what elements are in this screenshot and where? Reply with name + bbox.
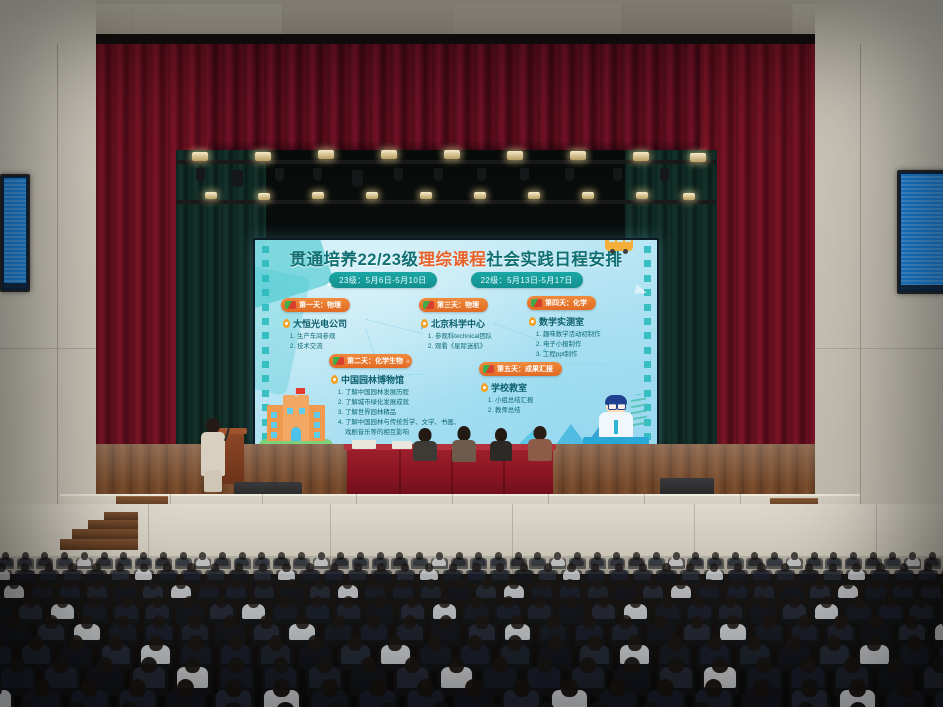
bus-tire <box>610 249 615 254</box>
ribbon-leaf-icon <box>531 299 542 307</box>
panel-table <box>347 448 553 496</box>
stage-lamp <box>192 152 208 161</box>
stage-lamp <box>474 192 486 199</box>
audience-member-head <box>0 563 6 572</box>
audience-member-head <box>756 657 772 674</box>
audience-member-head <box>37 579 47 590</box>
card-item: 了解中国园林发展历程 <box>345 388 461 398</box>
panelist-body <box>413 441 437 461</box>
audience-member-head <box>870 615 883 629</box>
school-window <box>287 408 293 414</box>
card-item: 教师总结 <box>495 406 562 416</box>
audience-member-head <box>615 563 623 572</box>
audience-member-head <box>811 552 818 560</box>
step <box>104 512 138 520</box>
audience-member-head <box>278 552 285 560</box>
day-ribbon: 第五天：成果汇报 <box>479 362 562 376</box>
audience-member-head <box>907 635 921 650</box>
step <box>60 539 138 550</box>
stage-lamp <box>205 192 217 199</box>
audience-member-head <box>258 552 265 560</box>
spotlight <box>520 168 529 181</box>
audience-member-head <box>548 635 562 650</box>
audience-member-head <box>899 579 909 590</box>
audience-member-head <box>712 657 728 674</box>
audience-member-head <box>668 657 684 674</box>
card-item: 观看《星际迷航》 <box>435 342 492 352</box>
audience-member-head <box>630 596 641 608</box>
audience-member-head <box>312 596 323 608</box>
audience-member-head <box>475 615 488 629</box>
ceiling-panel <box>452 4 623 38</box>
audience-member-head <box>692 552 699 560</box>
ceiling-panel <box>622 4 793 38</box>
audience-member-head <box>829 563 837 572</box>
bus-tire <box>623 249 628 254</box>
scientist-glasses <box>617 403 626 410</box>
day-ribbon: 第四天：化学 <box>527 296 596 310</box>
schedule-card-day3[interactable]: 第三天：物理 北京科学中心 参观科technical团队 观看《星际迷航》 <box>419 296 492 352</box>
stage-lamp <box>528 192 540 199</box>
audience-member-head <box>375 596 386 608</box>
plant-decor <box>631 394 647 428</box>
audience-member-head <box>109 635 123 650</box>
audience-member-head <box>141 657 157 674</box>
spotlight <box>394 168 403 181</box>
day-ribbon-label: 第一天：物理 <box>299 300 341 310</box>
presentation-slide: 贯通培养22/23级理综课程社会实践日程安排 23级：5月6日-5月10日 22… <box>255 240 657 446</box>
audience-member-head <box>503 596 514 608</box>
audience-member-head <box>189 635 203 650</box>
ribbon-leaf-icon <box>285 301 296 309</box>
day-ribbon-label: 第四天：化学 <box>545 298 587 308</box>
school-window <box>271 432 277 438</box>
audience-member-head <box>694 596 705 608</box>
audience-member-head <box>330 563 338 572</box>
location-pin-icon <box>529 317 536 326</box>
audience-member-head <box>520 563 528 572</box>
audience-member-head <box>248 596 259 608</box>
audience-member-head <box>361 657 377 674</box>
audience-member-head <box>68 563 76 572</box>
ceiling-panel <box>282 4 453 38</box>
audience-member-head <box>691 615 704 629</box>
audience-member-head <box>708 635 722 650</box>
location-pin-icon <box>421 319 428 328</box>
audience-member-head <box>121 596 132 608</box>
bus-window <box>609 240 615 242</box>
lighting-truss-lower <box>176 200 716 204</box>
audience-member-head <box>377 563 385 572</box>
audience-member-head <box>732 552 739 560</box>
audience-member-head <box>929 552 936 560</box>
card-place: 数学实测室 <box>529 315 601 328</box>
bus-window <box>625 240 631 242</box>
audience-member-head <box>704 579 714 590</box>
stage-lamp <box>312 192 324 199</box>
audience-member-head <box>33 679 50 697</box>
audience-member-head <box>225 679 242 697</box>
audience-member-head <box>849 679 866 697</box>
audience-member-head <box>149 635 163 650</box>
audience-member-head <box>791 552 798 560</box>
audience-member-head <box>465 679 482 697</box>
audience-member-head <box>25 596 36 608</box>
stage-lamp <box>255 152 271 161</box>
spotlight <box>313 168 322 181</box>
audience-member-head <box>815 579 825 590</box>
presenter-head <box>206 418 220 433</box>
stage-lamp <box>258 193 270 200</box>
audience-member-head <box>554 552 561 560</box>
audience-member-head <box>428 635 442 650</box>
audience-member-head <box>888 657 904 674</box>
day-ribbon-label: 第五天：成果汇报 <box>497 364 553 374</box>
card-place: 中国园林博物馆 <box>331 373 461 386</box>
table-paper <box>392 441 412 449</box>
audience-member-head <box>787 579 797 590</box>
audience-member-head <box>870 552 877 560</box>
audience-member-head <box>2 552 9 560</box>
audience-member-head <box>219 552 226 560</box>
wall-seam <box>57 44 58 560</box>
stage-lamp <box>366 192 378 199</box>
card-items: 参观科technical团队 观看《星际迷航》 <box>419 332 492 352</box>
audience-member-head <box>798 615 811 629</box>
step <box>88 520 138 529</box>
audience-member-head <box>867 635 881 650</box>
presenter <box>200 418 226 488</box>
location-pin-icon <box>283 319 290 328</box>
left-wall-display[interactable] <box>0 174 30 292</box>
day-ribbon: 第三天：物理 <box>419 298 488 312</box>
panelist-head <box>458 426 471 441</box>
audience-member-head <box>508 635 522 650</box>
audience-member-head <box>318 552 325 560</box>
audience-member-head <box>273 679 290 697</box>
audience-member-head <box>184 596 195 608</box>
audience-member-head <box>417 679 434 697</box>
audience-member-head <box>160 552 167 560</box>
audience-member-head <box>269 635 283 650</box>
audience-member-head <box>57 596 68 608</box>
audience-member-head <box>932 657 943 674</box>
display-taskbar <box>4 283 26 288</box>
audience-member-head <box>583 615 596 629</box>
audience-member-head <box>204 579 214 590</box>
step <box>72 529 138 539</box>
audience-member-head <box>850 552 857 560</box>
audience-member-head <box>343 579 353 590</box>
audience-member-head <box>298 552 305 560</box>
auditorium-photo: 贯通培养22/23级理综课程社会实践日程安排 23级：5月6日-5月10日 22… <box>0 0 943 707</box>
audience-member-head <box>633 552 640 560</box>
table-paper <box>352 440 376 449</box>
audience-member-head <box>580 657 596 674</box>
wall-band <box>0 348 96 349</box>
location-pin-icon <box>481 383 488 392</box>
audience-member-head <box>69 635 83 650</box>
audience-member-head <box>449 657 465 674</box>
audience-member-head <box>495 552 502 560</box>
date-badge-23: 23级：5月6日-5月10日 <box>329 272 436 288</box>
audience-member-head <box>468 635 482 650</box>
audience-member-head <box>897 679 914 697</box>
audience-member-head <box>216 596 227 608</box>
audience-member-head <box>712 552 719 560</box>
bus-window <box>617 240 623 242</box>
school-door <box>291 427 301 441</box>
projection-screen[interactable]: 贯通培养22/23级理综课程社会实践日程安排 23级：5月6日-5月10日 22… <box>253 238 659 448</box>
audience-member-head <box>45 563 53 572</box>
audience-member-head <box>337 552 344 560</box>
audience-member-head <box>511 615 524 629</box>
audience-member-head <box>449 563 457 572</box>
audience-member-head <box>296 615 309 629</box>
audience-member-head <box>354 563 362 572</box>
audience-member-head <box>747 635 761 650</box>
audience-member-head <box>332 615 345 629</box>
display-screen <box>4 178 26 288</box>
spotlight <box>565 168 574 181</box>
audience-member-head <box>235 563 243 572</box>
stage-lamp <box>690 153 706 162</box>
audience-member-head <box>315 579 325 590</box>
stage-lamp <box>683 193 695 200</box>
audience-member-head <box>97 657 113 674</box>
audience-member-head <box>852 563 860 572</box>
spotlight <box>434 168 443 181</box>
stage-lamp <box>507 151 523 160</box>
audience-member-head <box>853 596 864 608</box>
audience-member-head <box>199 552 206 560</box>
audience-member-head <box>787 635 801 650</box>
audience-member-head <box>41 552 48 560</box>
table-fold <box>399 450 401 496</box>
aisle-stairs <box>60 512 134 552</box>
card-items: 了解中国园林发展历程 了解城市绿化发展成就 了解世界园林精品 了解中国园林与传统… <box>329 388 461 438</box>
audience-member-head <box>653 552 660 560</box>
audience-member-head <box>81 552 88 560</box>
audience-member-head <box>561 679 578 697</box>
audience-member-head <box>727 615 740 629</box>
audience-member-head <box>574 552 581 560</box>
audience-member-head <box>751 552 758 560</box>
audience-member-head <box>624 657 640 674</box>
audience-member-head <box>116 563 124 572</box>
audience-member-head <box>547 615 560 629</box>
audience-member-head <box>188 615 201 629</box>
schedule-card-day5[interactable]: 第五天：成果汇报 学校教室 小组总结汇报 教师总结 <box>479 360 562 416</box>
audience-member-head <box>648 579 658 590</box>
card-item: 生产车间参观 <box>297 332 350 342</box>
audience-member-head <box>760 579 770 590</box>
panelist-body <box>528 439 552 461</box>
audience-member-head <box>407 596 418 608</box>
schedule-card-day4[interactable]: 第四天：化学 数学实测室 趣味数学活动初制作 电子小报制作 工程ppt制作 <box>527 294 601 360</box>
day-ribbon: 第一天：物理 <box>281 298 350 312</box>
audience-member-head <box>734 563 742 572</box>
card-item: 工程ppt制作 <box>543 350 601 360</box>
audience-member-head <box>321 679 338 697</box>
audience-member-head <box>885 596 896 608</box>
right-wall-display[interactable] <box>897 170 943 294</box>
audience-member-head <box>906 615 919 629</box>
day-ribbon-label: 第二天：化学生物 <box>347 356 403 366</box>
stage-lamp <box>582 192 594 199</box>
stage-lamp <box>570 151 586 160</box>
ribbon-leaf-icon <box>423 301 434 309</box>
slide-title: 贯通培养22/23级理综课程社会实践日程安排 <box>255 246 657 270</box>
audience-member-head <box>598 596 609 608</box>
audience-member-head <box>827 635 841 650</box>
audience-member-head <box>45 615 58 629</box>
audience-member-head <box>762 615 775 629</box>
audience-member-head <box>404 615 417 629</box>
audience-member-head <box>416 552 423 560</box>
audience-member-head <box>185 657 201 674</box>
audience-member-head <box>805 563 813 572</box>
panelist-head <box>534 426 547 440</box>
audience-member-head <box>619 615 632 629</box>
audience-member-head <box>9 615 22 629</box>
spotlight <box>352 170 363 187</box>
audience-member-head <box>21 563 29 572</box>
spotlight <box>660 168 669 181</box>
audience-member-head <box>117 615 130 629</box>
audience-member-head <box>370 579 380 590</box>
card-items: 趣味数学活动初制作 电子小报制作 工程ppt制作 <box>527 330 601 360</box>
wall-band <box>815 348 943 349</box>
card-item: 小组总结汇报 <box>495 396 562 406</box>
audience-member-head <box>92 579 102 590</box>
audience-member-head <box>81 615 94 629</box>
audience-member-head <box>889 552 896 560</box>
audience-member-head <box>89 596 100 608</box>
audience-member-head <box>705 679 722 697</box>
spotlight <box>613 168 622 181</box>
audience-member-head <box>926 579 936 590</box>
audience-member-head <box>282 563 290 572</box>
schedule-card-day1[interactable]: 第一天：物理 大恒光电公司 生产车间参观 技术交流 <box>281 296 350 352</box>
stage-lamp <box>636 192 648 199</box>
audience-member-head <box>176 579 186 590</box>
card-place-label: 大恒光电公司 <box>293 317 347 330</box>
school-building-illustration <box>259 394 333 446</box>
audience-member-head <box>65 579 75 590</box>
audience-member-head <box>426 579 436 590</box>
date-badge-row: 23级：5月6日-5月10日 22级：5月13日-5月17日 <box>255 272 657 288</box>
audience-member-head <box>732 579 742 590</box>
audience-member-head <box>628 635 642 650</box>
audience-member-head <box>308 635 322 650</box>
audience-member-head <box>830 552 837 560</box>
date-badge-22: 22级：5月13日-5月17日 <box>471 272 583 288</box>
audience-member-head <box>800 657 816 674</box>
card-place-label: 数学实测室 <box>539 315 584 328</box>
audience-member-head <box>396 552 403 560</box>
card-item: 了解中国园林与传统哲学、文学、书画、戏剧音乐等的相互影响 <box>345 418 461 438</box>
schedule-card-day2[interactable]: 第二天：化学生物 中国园林博物馆 了解中国园林发展历程 了解城市绿化发展成就 了… <box>329 352 461 438</box>
audience-member-head <box>348 635 362 650</box>
ribbon-leaf-icon <box>333 357 344 365</box>
audience-member-head <box>593 579 603 590</box>
school-bus-icon <box>605 240 633 251</box>
audience-member-head <box>224 615 237 629</box>
audience-member-head <box>388 635 402 650</box>
card-items: 小组总结汇报 教师总结 <box>479 396 562 416</box>
audience-member-head <box>53 657 69 674</box>
audience-member-head <box>676 579 686 590</box>
audience-member-head <box>843 579 853 590</box>
audience-member-head <box>821 596 832 608</box>
audience-member-head <box>187 563 195 572</box>
display-taskbar <box>901 285 943 290</box>
location-pin-icon <box>331 375 338 384</box>
sparkle-icon: ✧ <box>405 358 411 366</box>
panelist-body <box>452 440 476 462</box>
audience-member-head <box>537 579 547 590</box>
school-window <box>314 412 320 418</box>
audience-member-head <box>757 563 765 572</box>
audience-member-head <box>425 563 433 572</box>
audience-member-head <box>871 579 881 590</box>
spotlight <box>232 170 243 187</box>
audience-member-head <box>9 579 19 590</box>
audience-member-head <box>22 552 29 560</box>
school-window <box>314 422 320 428</box>
audience-member-head <box>287 579 297 590</box>
audience-member-head <box>101 552 108 560</box>
audience-member-head <box>120 579 130 590</box>
school-window <box>271 422 277 428</box>
stage-lamp <box>381 150 397 159</box>
stage-lamp <box>318 150 334 159</box>
wall-seam <box>860 44 861 560</box>
scientist-tie <box>614 420 618 434</box>
audience-member-head <box>398 579 408 590</box>
audience-member-head <box>909 552 916 560</box>
card-item: 参观科technical团队 <box>435 332 492 342</box>
audience-member-head <box>613 552 620 560</box>
day-ribbon: 第二天：化学生物 <box>329 354 412 368</box>
audience-member-head <box>148 579 158 590</box>
card-item: 了解世界园林精品 <box>345 408 461 418</box>
presenter-legs <box>204 470 222 492</box>
audience-member-head <box>876 563 884 572</box>
audience-member-head <box>753 679 770 697</box>
audience-member-head <box>662 563 670 572</box>
stage-lamp <box>633 152 649 161</box>
audience-member-head <box>377 552 384 560</box>
display-screen <box>901 174 943 290</box>
audience-member-head <box>771 552 778 560</box>
scientist-glasses <box>608 403 617 410</box>
audience-member-head <box>789 596 800 608</box>
card-place-label: 学校教室 <box>491 381 527 394</box>
spotlight <box>275 168 284 181</box>
school-window <box>314 432 320 438</box>
slide-title-highlight: 理综课程 <box>418 251 486 269</box>
ceiling-panel <box>132 4 283 38</box>
spotlight <box>196 168 205 181</box>
audience-member-head <box>834 615 847 629</box>
audience-member-head <box>280 596 291 608</box>
audience-member-head <box>239 552 246 560</box>
audience-member-head <box>260 615 273 629</box>
audience-member-head <box>153 615 166 629</box>
audience-member-head <box>513 679 530 697</box>
